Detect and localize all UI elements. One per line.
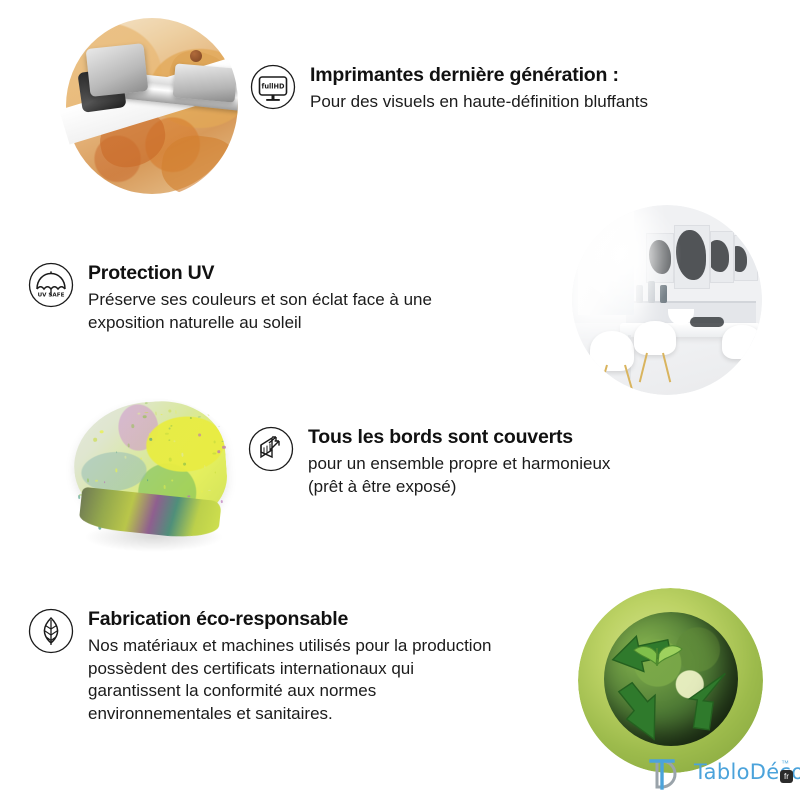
td-monogram-icon [648,757,692,791]
body-line: environnementales et sanitaires. [88,703,491,725]
body-line: pour un ensemble propre et harmonieux [308,453,610,475]
body-line: garantissent la conformité aux normes [88,680,491,702]
svg-text:UV SAFE: UV SAFE [38,292,65,298]
feature-eco: Fabrication éco-responsable Nos matériau… [28,608,491,725]
feature-heading: Tous les bords sont couverts [308,426,610,449]
feature-heading: Protection UV [88,262,432,285]
uv-safe-umbrella-icon: UV SAFE [28,262,74,308]
feature-body: Nos matériaux et machines utilisés pour … [88,635,491,725]
green-earth-recycling-photo [578,588,763,773]
feature-printers: fullHD Imprimantes dernière génération :… [250,64,648,114]
feature-uv: UV SAFE Protection UV Préserve ses coule… [28,262,432,334]
body-line: (prêt à être exposé) [308,476,610,498]
trademark-symbol: ™ [781,759,789,768]
wrapped-edges-icon [248,426,294,472]
locale-badge: fr [780,770,793,783]
bright-dining-room-canvas-photo [572,205,762,395]
body-line: Nos matériaux et machines utilisés pour … [88,635,491,657]
printer-head-world-map-photo [58,8,238,198]
tablodeco-logo[interactable]: TabloDéco ™ fr [648,757,794,793]
canvas-wrapped-corner-photo [58,398,248,573]
body-line: exposition naturelle au soleil [88,312,432,334]
body-line: possèdent des certificats internationaux… [88,658,491,680]
body-line: Préserve ses couleurs et son éclat face … [88,289,432,311]
leaf-eco-icon [28,608,74,654]
feature-edges: Tous les bords sont couverts pour un ens… [248,426,610,498]
infographic-page: fullHD Imprimantes dernière génération :… [0,0,800,800]
feature-heading: Fabrication éco-responsable [88,608,491,631]
body-line: Pour des visuels en haute-définition blu… [310,91,648,113]
svg-text:fullHD: fullHD [261,83,285,91]
feature-heading: Imprimantes dernière génération : [310,64,648,87]
feature-body: Préserve ses couleurs et son éclat face … [88,289,432,334]
full-hd-monitor-icon: fullHD [250,64,296,110]
feature-body: pour un ensemble propre et harmonieux (p… [308,453,610,498]
feature-body: Pour des visuels en haute-définition blu… [310,91,648,113]
